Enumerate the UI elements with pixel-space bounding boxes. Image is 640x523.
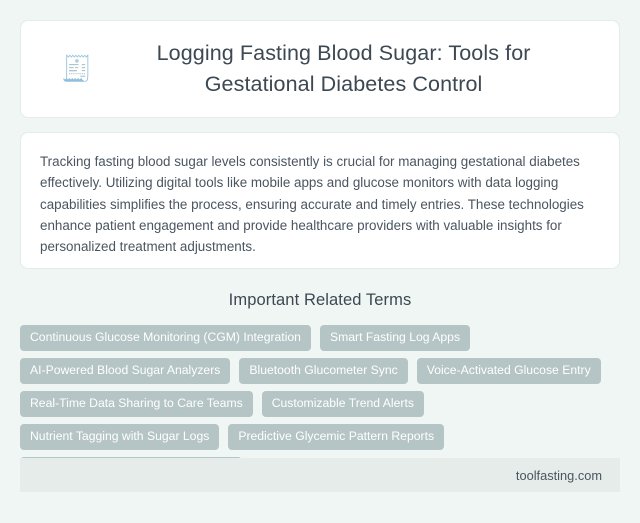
related-term-tag[interactable]: Continuous Glucose Monitoring (CGM) Inte… [20,325,311,351]
related-term-tag[interactable]: Real-Time Data Sharing to Care Teams [20,391,253,417]
related-term-tag[interactable]: Bluetooth Glucometer Sync [239,358,407,384]
related-terms-heading: Important Related Terms [20,291,620,310]
title-card: 🧾 Logging Fasting Blood Sugar: Tools for… [20,20,620,118]
footer-site-name: toolfasting.com [516,468,602,483]
receipt-icon: 🧾 [61,57,92,82]
related-term-tag[interactable]: Nutrient Tagging with Sugar Logs [20,424,219,450]
page-root: 🧾 Logging Fasting Blood Sugar: Tools for… [0,0,640,523]
related-terms-section: Important Related Terms Continuous Gluco… [20,291,620,483]
related-term-tag[interactable]: Predictive Glycemic Pattern Reports [228,424,444,450]
description-text: Tracking fasting blood sugar levels cons… [40,151,600,257]
related-term-tag[interactable]: Smart Fasting Log Apps [320,325,470,351]
title-row: 🧾 Logging Fasting Blood Sugar: Tools for… [61,24,579,114]
related-term-tag[interactable]: AI-Powered Blood Sugar Analyzers [20,358,230,384]
related-term-tag[interactable]: Voice-Activated Glucose Entry [417,358,601,384]
page-title: Logging Fasting Blood Sugar: Tools for G… [108,38,579,99]
related-term-tag[interactable]: Customizable Trend Alerts [262,391,424,417]
footer-bar: toolfasting.com [20,458,620,492]
description-card: Tracking fasting blood sugar levels cons… [20,132,620,269]
